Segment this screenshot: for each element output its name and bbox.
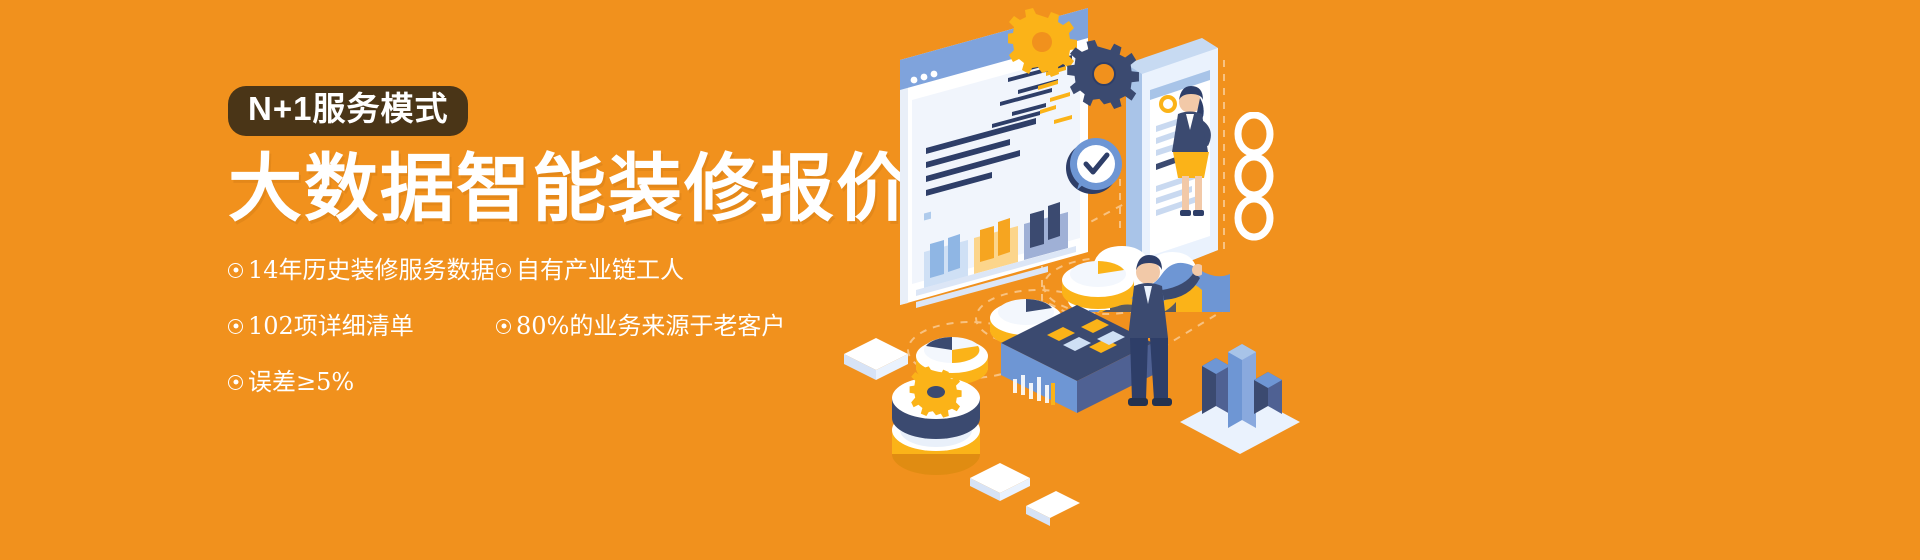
- gear-icon: [1008, 8, 1148, 128]
- floating-tiles: [830, 310, 1080, 540]
- bullseye-dot-icon: [496, 263, 511, 278]
- ring-stack: [1220, 112, 1290, 272]
- bullseye-dot-icon: [496, 319, 511, 334]
- list-item: 80%的业务来源于老客户: [496, 314, 836, 338]
- feature-bullet-list: 14年历史装修服务数据 自有产业链工人 102项详细清单 80%的业务来源于老客…: [228, 258, 848, 394]
- list-item: 误差≥5%: [228, 370, 496, 394]
- service-model-badge: N+1服务模式: [228, 86, 468, 136]
- promo-banner: N+1服务模式 大数据智能装修报价 14年历史装修服务数据 自有产业链工人 10…: [0, 0, 1920, 560]
- bullet-label: 102项详细清单: [248, 314, 414, 338]
- bullseye-dot-icon: [228, 319, 243, 334]
- list-item: 14年历史装修服务数据: [228, 258, 496, 282]
- bullseye-dot-icon: [228, 375, 243, 390]
- bullet-label: 自有产业链工人: [516, 258, 684, 282]
- bullet-label: 误差≥5%: [248, 370, 354, 394]
- check-badge-icon: [1056, 128, 1132, 204]
- bullet-label: 14年历史装修服务数据: [248, 258, 495, 282]
- isometric-big-data-illustration: [820, 0, 1440, 560]
- list-item: 自有产业链工人: [496, 258, 836, 282]
- bullseye-dot-icon: [228, 263, 243, 278]
- list-item: 102项详细清单: [228, 314, 496, 338]
- bar-chart: [1172, 310, 1312, 460]
- bullet-label: 80%的业务来源于老客户: [516, 314, 785, 338]
